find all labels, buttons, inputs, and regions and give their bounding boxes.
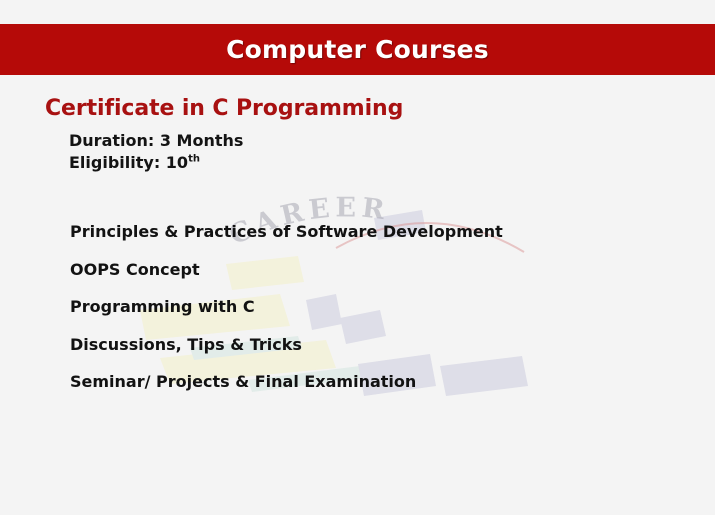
course-duration: Duration: 3 Months	[69, 130, 243, 152]
course-eligibility-suffix: th	[188, 154, 200, 165]
course-eligibility: Eligibility: 10th	[69, 152, 243, 174]
list-item: OOPS Concept	[70, 258, 503, 296]
list-item: Programming with C	[70, 295, 503, 333]
slide-canvas: CAREER Computer Courses Certificate in C…	[0, 0, 715, 515]
page-title: Computer Courses	[226, 35, 489, 64]
list-item: Discussions, Tips & Tricks	[70, 333, 503, 371]
header-banner: Computer Courses	[0, 24, 715, 75]
course-title: Certificate in C Programming	[45, 96, 403, 121]
list-item: Seminar/ Projects & Final Examination	[70, 370, 503, 408]
course-details: Duration: 3 Months Eligibility: 10th	[69, 130, 243, 174]
course-eligibility-text: Eligibility: 10	[69, 153, 188, 172]
list-item: Principles & Practices of Software Devel…	[70, 220, 503, 258]
topic-list: Principles & Practices of Software Devel…	[70, 220, 503, 408]
